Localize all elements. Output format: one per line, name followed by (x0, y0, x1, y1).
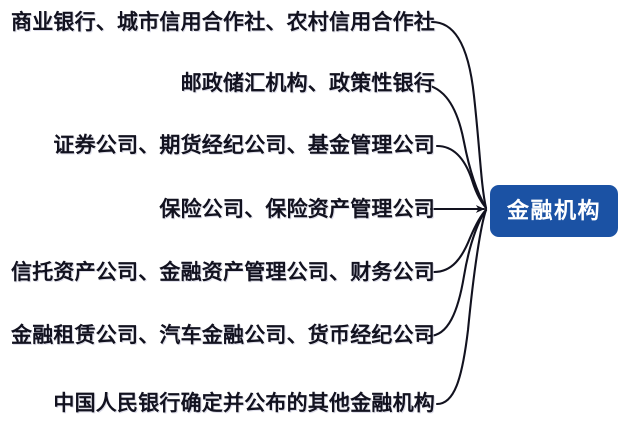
branch-label-6: 金融租赁公司、汽车金融公司、货币经纪公司 (11, 323, 435, 349)
connector-b3 (437, 146, 486, 208)
diagram-canvas: 商业银行、城市信用合作社、农村信用合作社 邮政储汇机构、政策性银行 证券公司、期… (0, 0, 628, 430)
branch-label-3: 证券公司、期货经纪公司、基金管理公司 (53, 133, 435, 159)
connector-b5 (434, 210, 486, 272)
hub-node: 金融机构 (490, 185, 618, 237)
branch-label-7: 中国人民银行确定并公布的其他金融机构 (53, 391, 435, 417)
branch-label-1: 商业银行、城市信用合作社、农村信用合作社 (11, 10, 435, 36)
connector-b7 (437, 210, 486, 404)
branch-label-2: 邮政储汇机构、政策性银行 (181, 71, 435, 97)
connector-b1 (432, 22, 486, 208)
hub-label: 金融机构 (507, 200, 601, 222)
branch-label-4: 保险公司、保险资产管理公司 (159, 197, 435, 223)
connector-b6 (429, 210, 486, 336)
branch-label-5: 信托资产公司、金融资产管理公司、财务公司 (11, 260, 435, 286)
